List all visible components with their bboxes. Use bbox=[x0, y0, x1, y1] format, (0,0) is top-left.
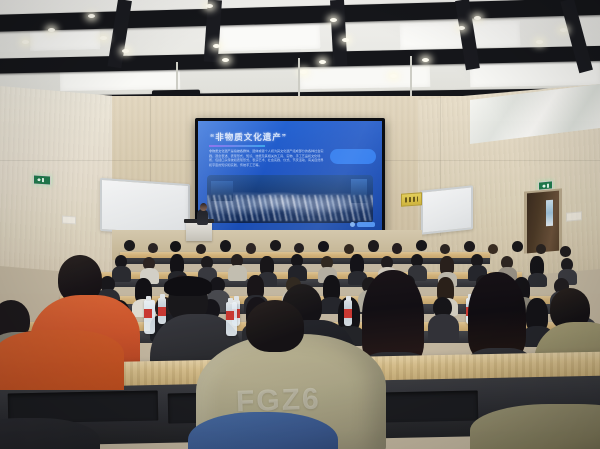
ceiling-downlight bbox=[213, 44, 220, 48]
water-bottle bbox=[144, 300, 155, 334]
left-wall bbox=[0, 86, 112, 276]
water-bottle bbox=[226, 302, 237, 336]
ceiling-downlight bbox=[458, 26, 465, 30]
ceiling-downlight bbox=[536, 40, 543, 44]
hanging-rod bbox=[298, 58, 300, 100]
ceiling-panel bbox=[220, 23, 321, 51]
ceiling-downlight bbox=[88, 14, 95, 18]
whiteboard-left bbox=[100, 178, 190, 237]
ceiling-downlight bbox=[100, 36, 107, 40]
ceiling-downlight bbox=[48, 28, 55, 32]
hanging-rod bbox=[176, 62, 178, 92]
exit-running-man-icon bbox=[541, 183, 552, 188]
presenter-body bbox=[197, 209, 208, 225]
presenter-head bbox=[200, 203, 207, 211]
ceiling-downlight bbox=[330, 18, 337, 22]
wall-notice-sign bbox=[401, 192, 422, 206]
slide-page-dot bbox=[350, 222, 355, 227]
ceiling-downlight bbox=[342, 38, 349, 42]
slide-photo bbox=[207, 175, 373, 223]
slide-page-badge bbox=[357, 222, 375, 227]
wall-switch-plate[interactable] bbox=[566, 211, 582, 221]
wall-switch-plate[interactable] bbox=[62, 216, 76, 225]
ceiling-downlight bbox=[422, 58, 429, 62]
exit-sign-left bbox=[33, 174, 51, 185]
slide-title-underline bbox=[209, 145, 265, 147]
projection-screen-bezel: “非物质文化遗产” 非物质文化遗产是指被各群体、团体或者个人视为其文化遗产组成部… bbox=[195, 118, 385, 234]
door-window bbox=[546, 200, 553, 227]
slide-title: “非物质文化遗产” bbox=[210, 131, 287, 143]
ceiling-downlight bbox=[390, 74, 397, 78]
ceiling-downlight bbox=[122, 49, 129, 53]
slide-photo-figures bbox=[207, 195, 373, 221]
slide-body-text: 非物质文化遗产是指被各群体、团体或者个人视为其文化遗产组成部分的各种社会实践、观… bbox=[209, 149, 325, 167]
ceiling-downlight bbox=[560, 28, 567, 32]
ceiling-downlight bbox=[319, 60, 326, 64]
exit-running-man-icon bbox=[36, 177, 47, 182]
ceiling-downlight bbox=[206, 4, 213, 8]
ceiling-downlight bbox=[222, 58, 229, 62]
whiteboard-right bbox=[421, 185, 473, 234]
projection-screen: “非物质文化遗产” 非物质文化遗产是指被各群体、团体或者个人视为其文化遗产组成部… bbox=[198, 121, 382, 231]
slide-accent-shape bbox=[330, 149, 376, 164]
water-bottle bbox=[158, 298, 166, 324]
lecture-hall-photo: “非物质文化遗产” 非物质文化遗产是指被各群体、团体或者个人视为其文化遗产组成部… bbox=[0, 0, 600, 449]
ceiling-downlight bbox=[300, 70, 307, 74]
ceiling-downlight bbox=[22, 40, 29, 44]
ceiling-downlight bbox=[474, 16, 481, 20]
water-bottle bbox=[344, 300, 352, 326]
